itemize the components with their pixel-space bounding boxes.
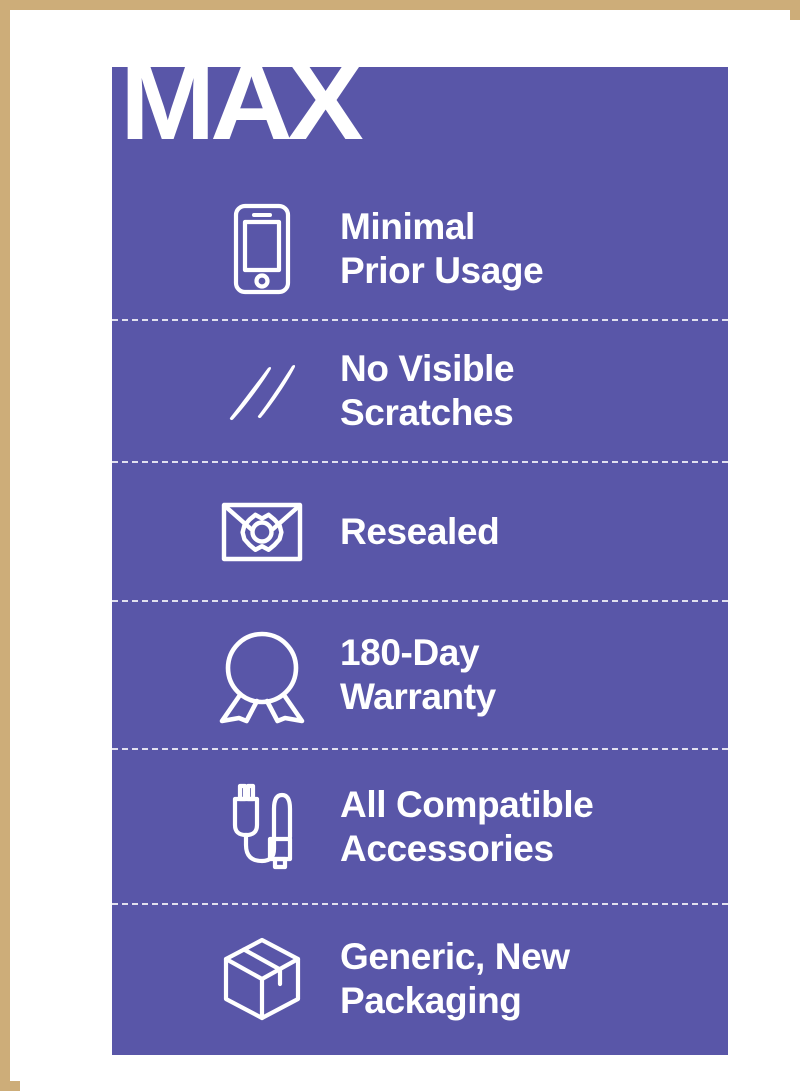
- feature-row-minimal-prior-usage: Minimal Prior Usage: [112, 179, 728, 319]
- feature-label: Resealed: [314, 510, 728, 554]
- feature-label: 180-Day Warranty: [314, 631, 728, 718]
- feature-row-no-visible-scratches: No Visible Scratches: [112, 319, 728, 461]
- feature-list: Minimal Prior Usage No Visible Scratches: [112, 179, 728, 1053]
- feature-row-180-day-warranty: 180-Day Warranty: [112, 600, 728, 748]
- smartphone-icon: [210, 203, 314, 295]
- feature-label: Minimal Prior Usage: [314, 205, 728, 292]
- sealed-envelope-icon: [210, 501, 314, 563]
- infographic-card: MAX Minimal Prior Usage: [0, 0, 800, 1091]
- badge-panel: MAX Minimal Prior Usage: [112, 67, 728, 1055]
- feature-label: No Visible Scratches: [314, 347, 728, 434]
- scratches-icon: [210, 360, 314, 422]
- award-ribbon-icon: [210, 625, 314, 725]
- feature-row-all-compatible-accessories: All Compatible Accessories: [112, 748, 728, 903]
- feature-label: All Compatible Accessories: [314, 783, 728, 870]
- feature-label: Generic, New Packaging: [314, 935, 728, 1022]
- feature-row-resealed: Resealed: [112, 461, 728, 600]
- usb-cable-icon: [210, 777, 314, 877]
- card-mat: MAX Minimal Prior Usage: [20, 20, 800, 1091]
- package-box-icon: [210, 936, 314, 1022]
- brand-wordmark: MAX: [120, 67, 359, 163]
- feature-row-generic-new-packaging: Generic, New Packaging: [112, 903, 728, 1053]
